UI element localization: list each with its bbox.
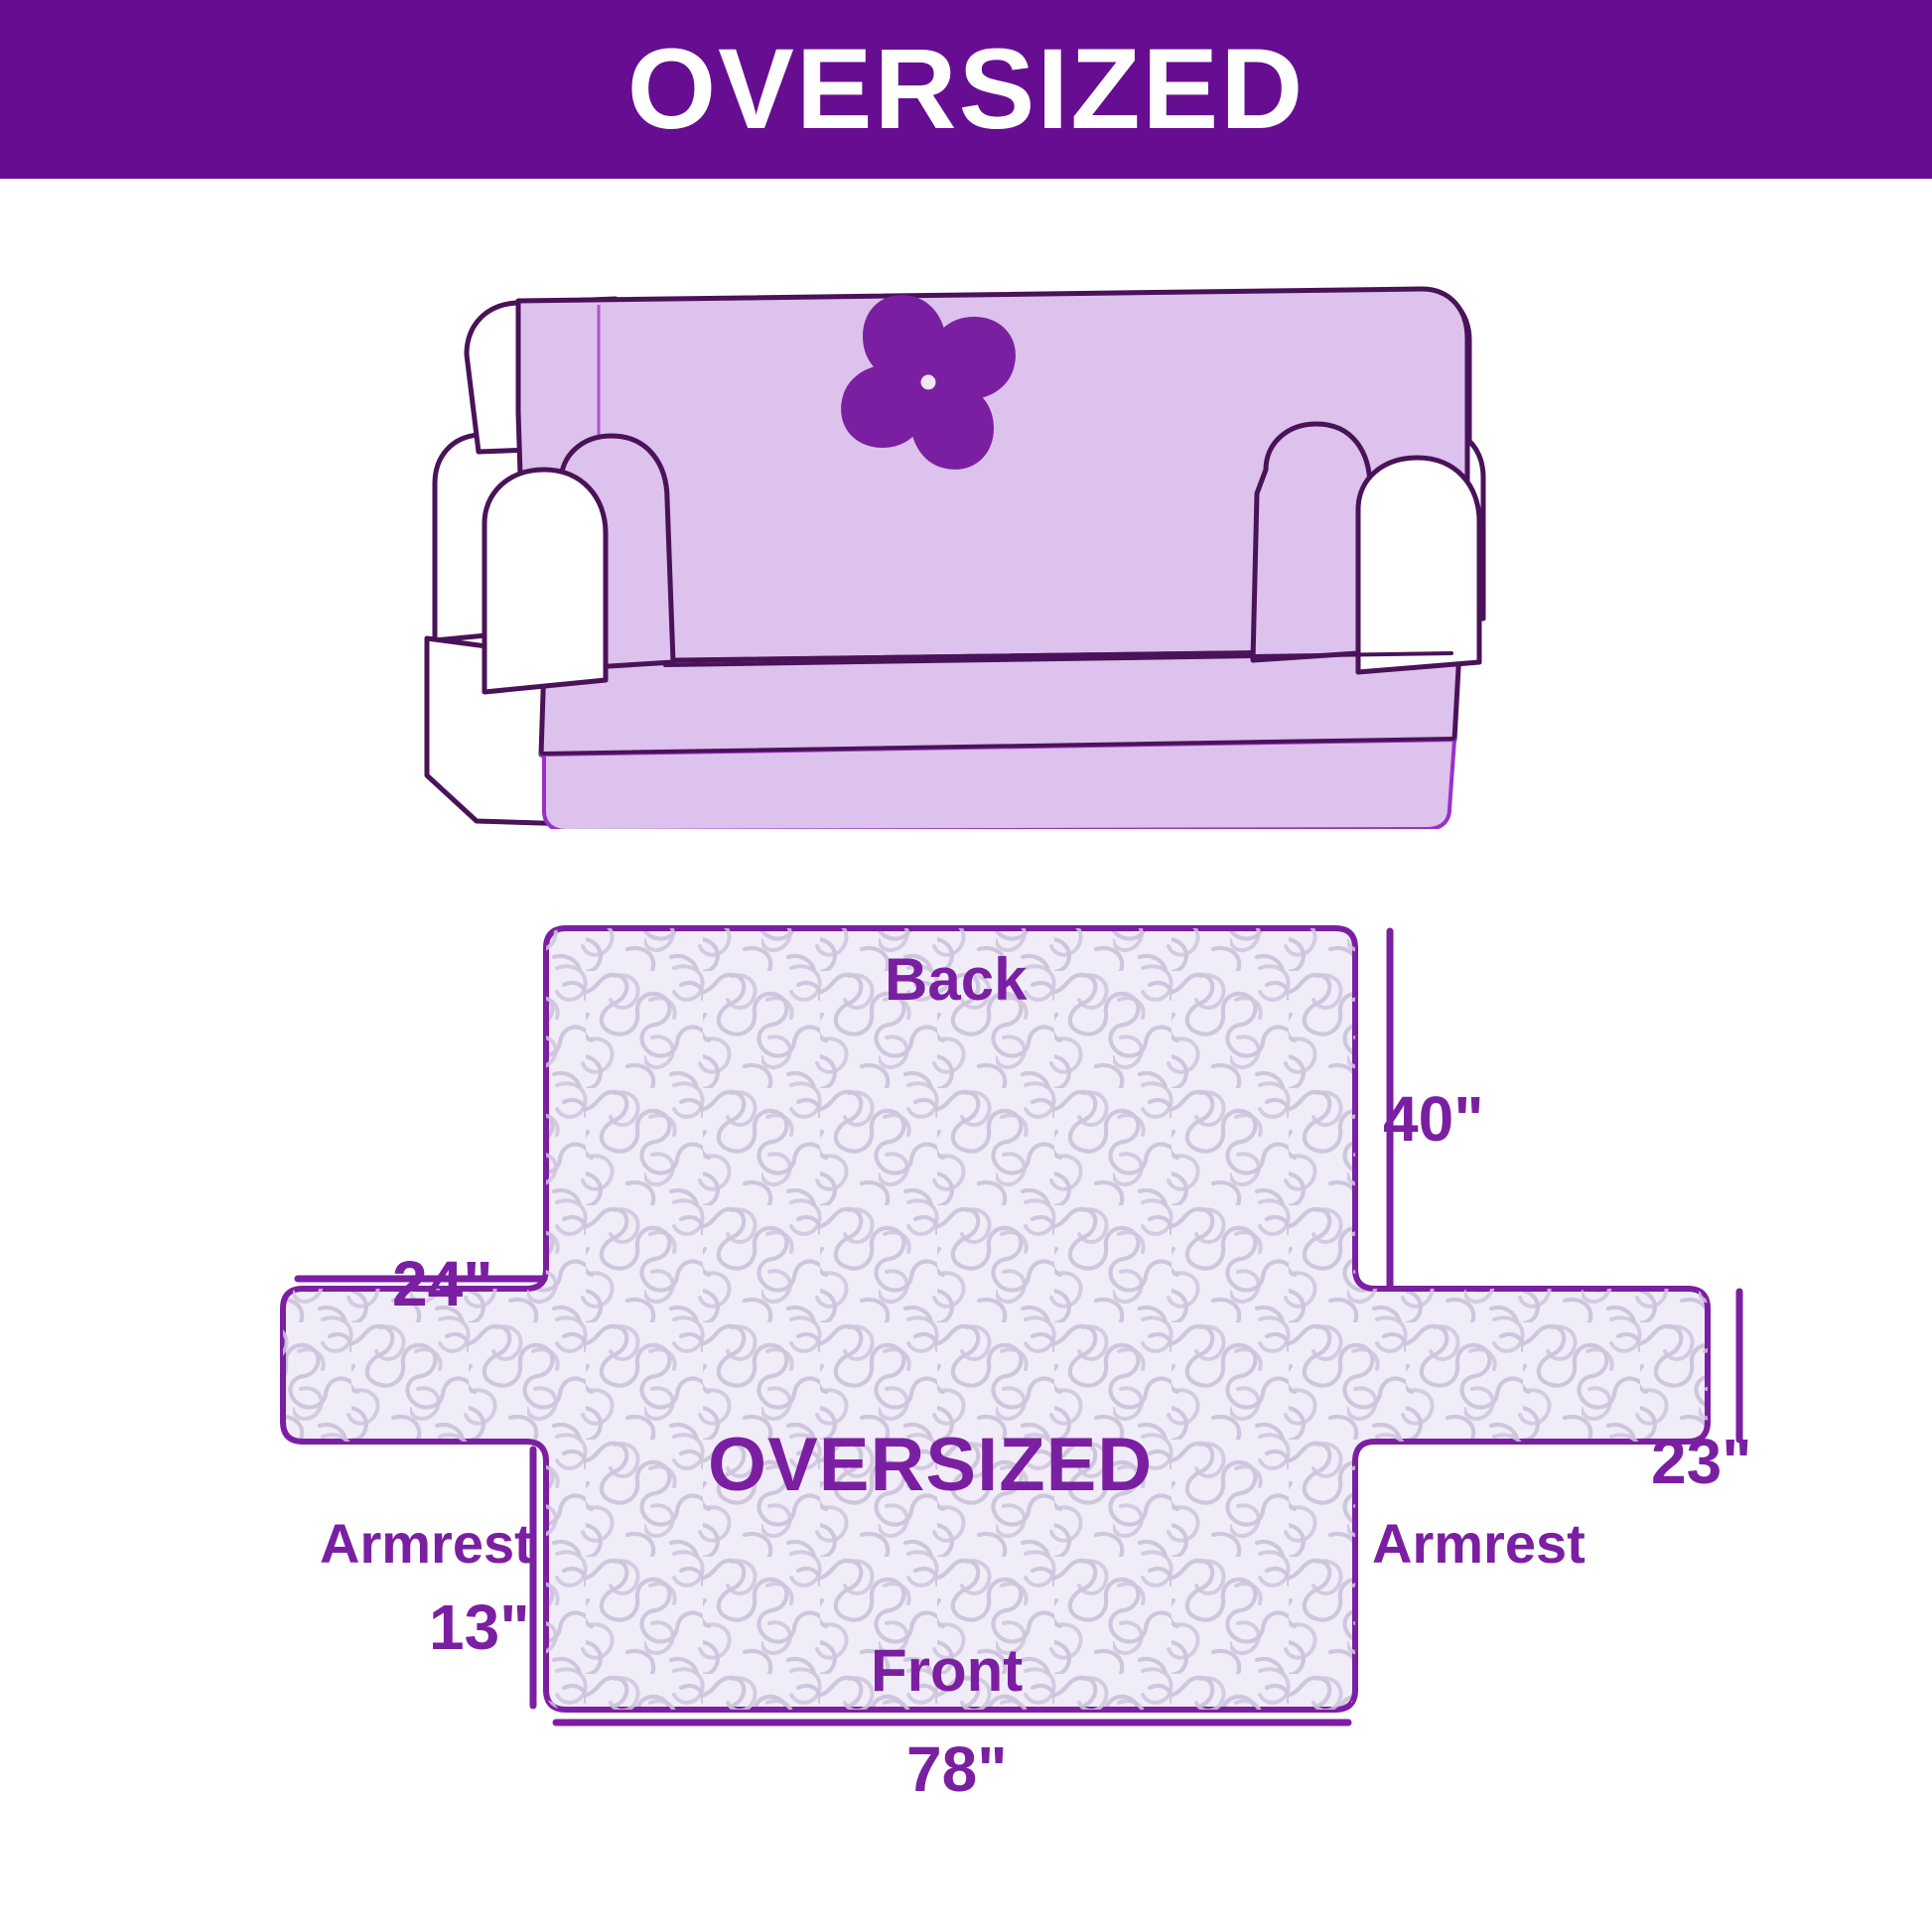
dimension-label-13: 13" (429, 1590, 530, 1664)
sofa-drawing (367, 213, 1569, 829)
diagram-center-label: OVERSIZED (708, 1422, 1153, 1508)
header-banner: OVERSIZED (0, 0, 1932, 179)
dimension-label-24: 24" (392, 1247, 493, 1320)
dimension-label-23: 23" (1651, 1425, 1752, 1498)
panel-label-armrest-left: Armrest (320, 1511, 533, 1576)
dimension-label-40: 40" (1383, 1082, 1484, 1156)
sofa-illustration (367, 213, 1569, 829)
sofa-left-armrest (484, 436, 673, 692)
pinwheel-fan-logo (841, 295, 1016, 470)
panel-label-front: Front (871, 1636, 1023, 1705)
panel-label-back: Back (885, 945, 1027, 1014)
dimension-label-78: 78" (906, 1732, 1008, 1806)
size-chart-page: OVERSIZED (0, 0, 1932, 1932)
panel-label-armrest-right: Armrest (1372, 1511, 1586, 1576)
sofa-right-armrest (1253, 424, 1479, 672)
page-title: OVERSIZED (627, 33, 1306, 147)
